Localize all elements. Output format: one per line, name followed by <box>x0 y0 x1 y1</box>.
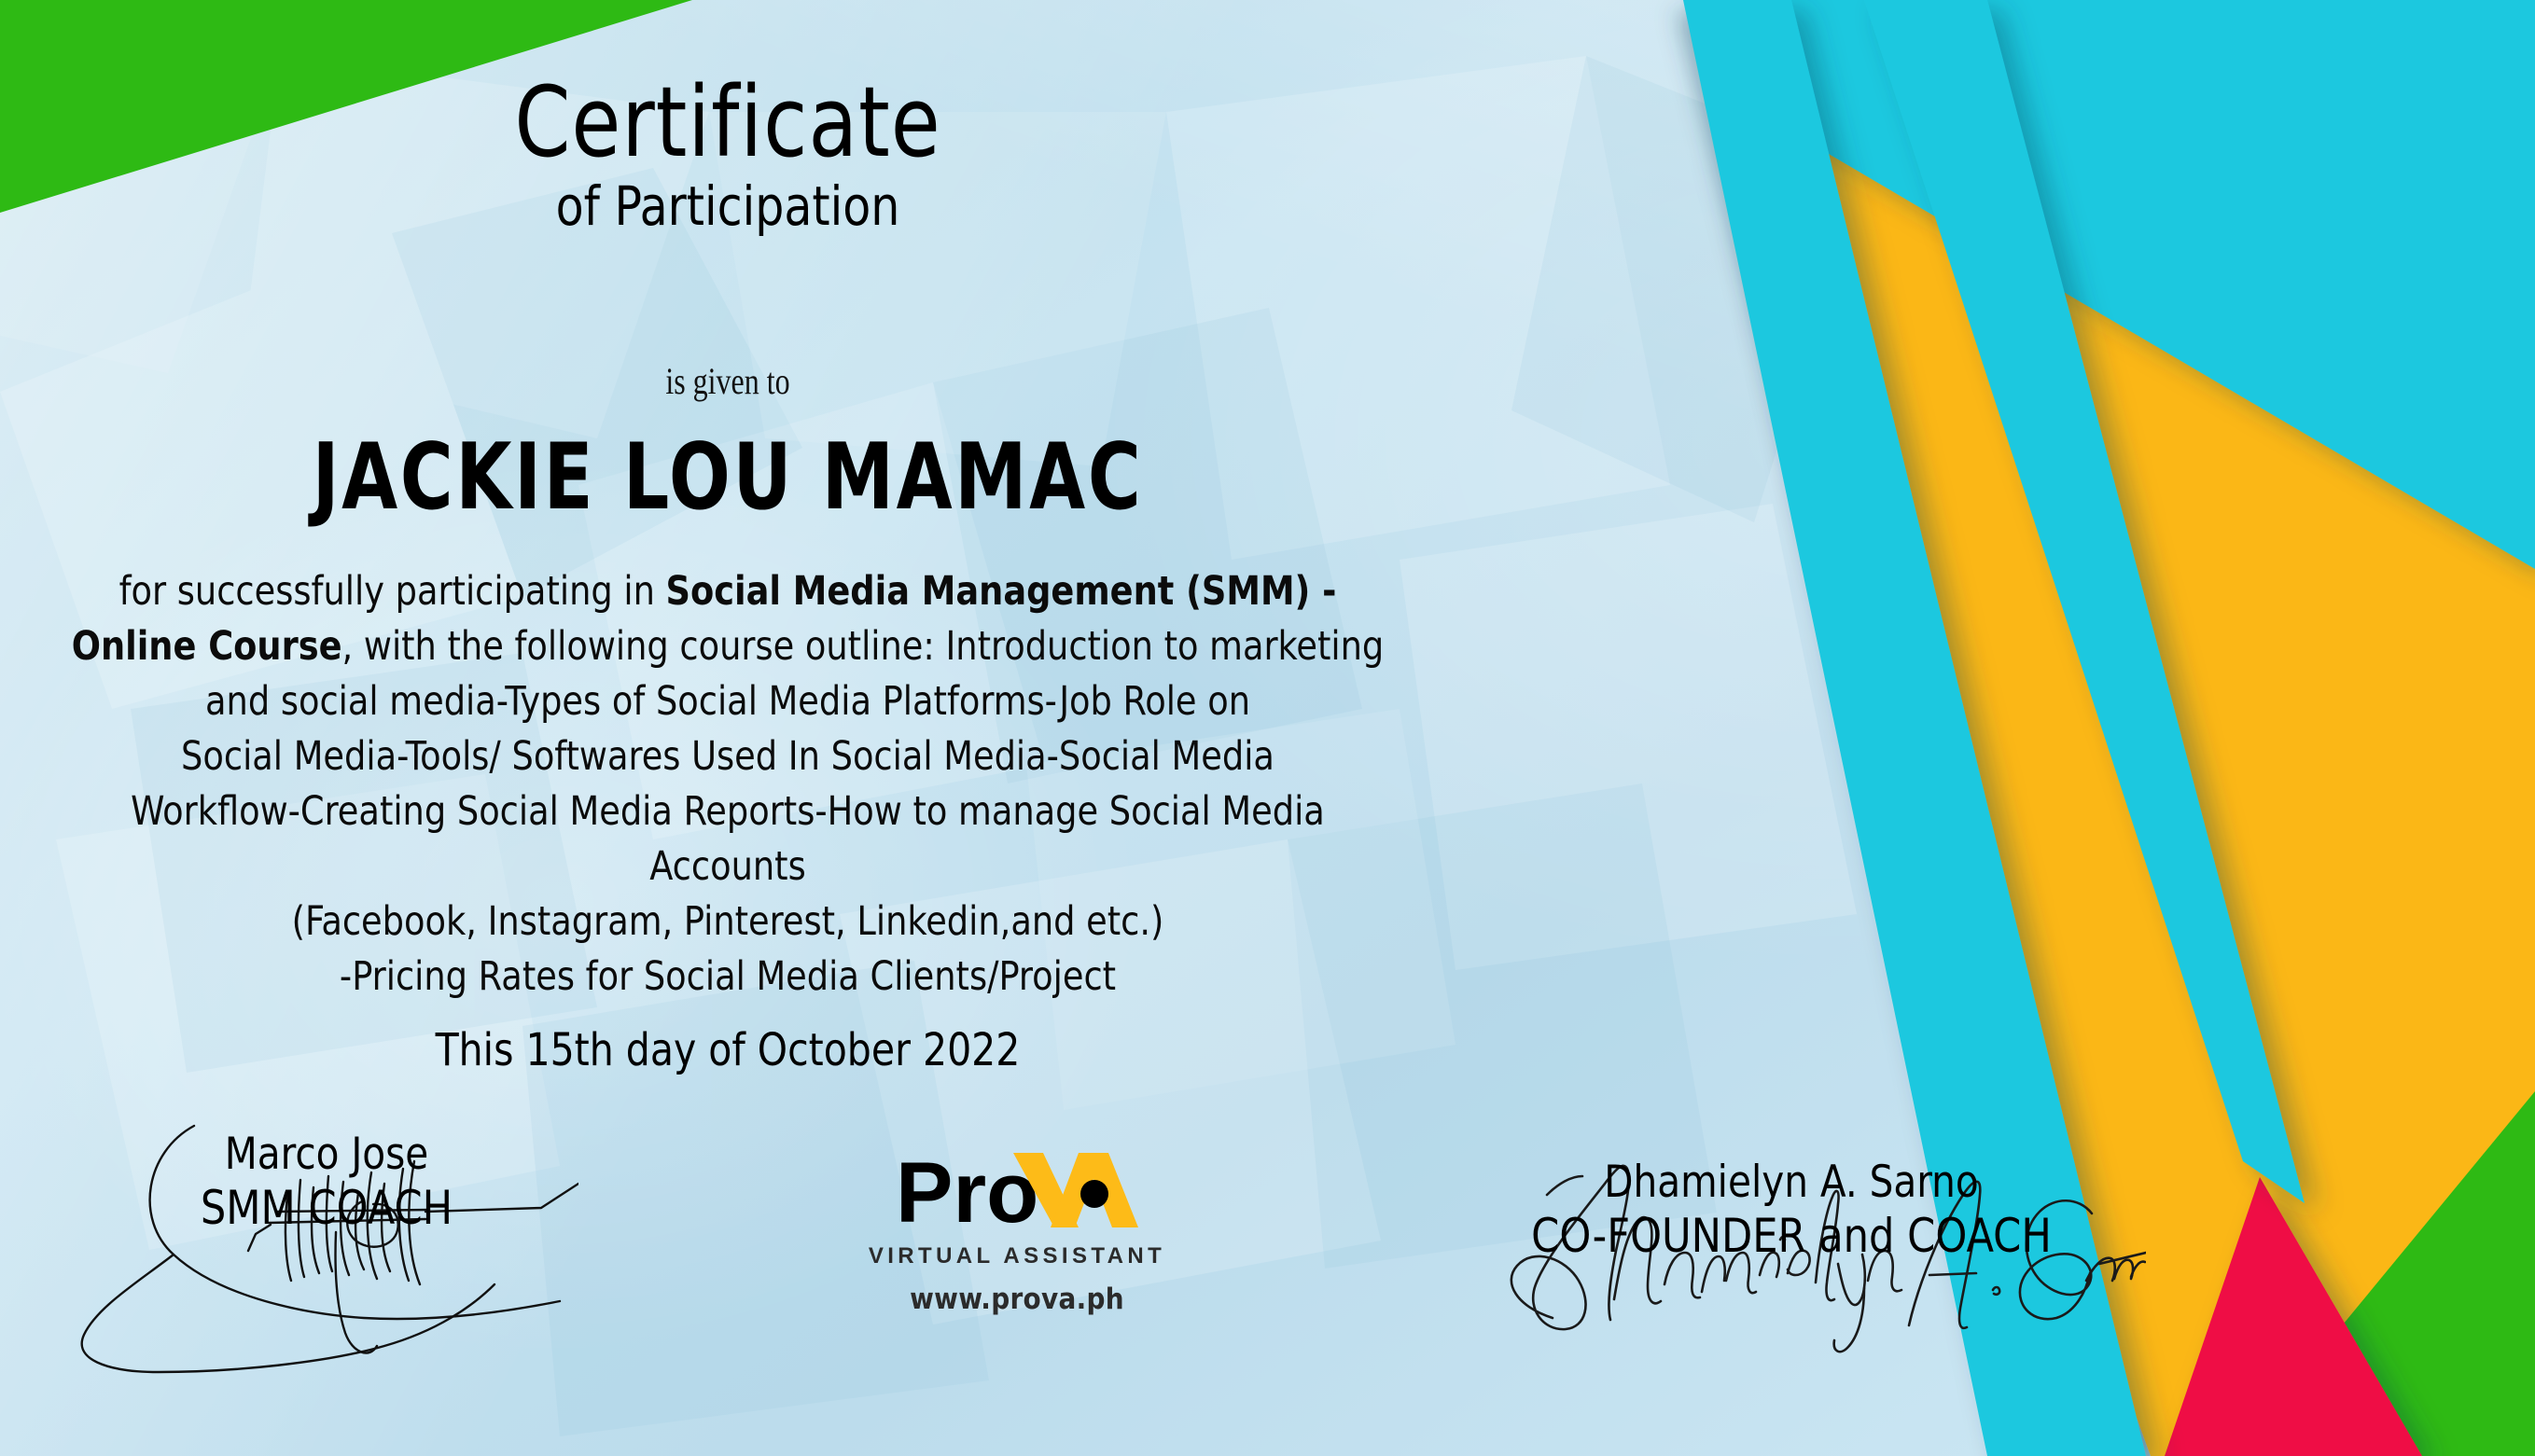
signatory-name-right: Dhamielyn A. Sarno <box>1433 1157 2150 1209</box>
recipient-name: JACKIE LOU MAMAC <box>88 424 1369 531</box>
certificate-canvas: Certificate of Participation is given to… <box>0 0 2535 1456</box>
signatory-name-left: Marco Jose <box>49 1129 604 1181</box>
body-line-6: (Facebook, Instagram, Pinterest, Linkedi… <box>292 898 1164 945</box>
logo-dot <box>1080 1180 1108 1208</box>
logo-word-pro: Pro <box>896 1149 1038 1241</box>
logo-url: www.prova.ph <box>821 1283 1213 1316</box>
page-subtitle: of Participation <box>44 177 1412 237</box>
body-line-2: Online Course, with the following course… <box>72 623 1385 670</box>
logo-tagline: VIRTUAL ASSISTANT <box>821 1243 1213 1269</box>
given-to-label: is given to <box>146 359 1310 403</box>
certificate-content: Certificate of Participation is given to… <box>0 0 2535 1456</box>
page-title: Certificate <box>58 71 1397 173</box>
body-line-3: and social media-Types of Social Media P… <box>205 678 1250 725</box>
body-line-4: Social Media-Tools/ Softwares Used In So… <box>181 733 1274 780</box>
title-block: Certificate of Participation <box>0 71 1456 237</box>
body-line-5: Workflow-Creating Social Media Reports-H… <box>131 788 1325 890</box>
signatory-role-left: SMM COACH <box>49 1181 604 1235</box>
body-line-7: -Pricing Rates for Social Media Clients/… <box>340 953 1116 1000</box>
signature-block-right: Dhamielyn A. Sarno CO-FOUNDER and COACH <box>1418 1157 2165 1263</box>
prova-logomark-icon: Pro <box>896 1149 1138 1241</box>
signatory-role-right: CO-FOUNDER and COACH <box>1433 1209 2150 1263</box>
date-line: This 15th day of October 2022 <box>36 1024 1419 1076</box>
signature-block-left: Marco Jose SMM COACH <box>37 1129 616 1235</box>
body-line-1: for successfully participating in Social… <box>119 568 1337 615</box>
prova-logo: Pro VIRTUAL ASSISTANT www.prova.ph <box>821 1149 1213 1316</box>
body-text: for successfully participating in Social… <box>54 564 1401 1005</box>
